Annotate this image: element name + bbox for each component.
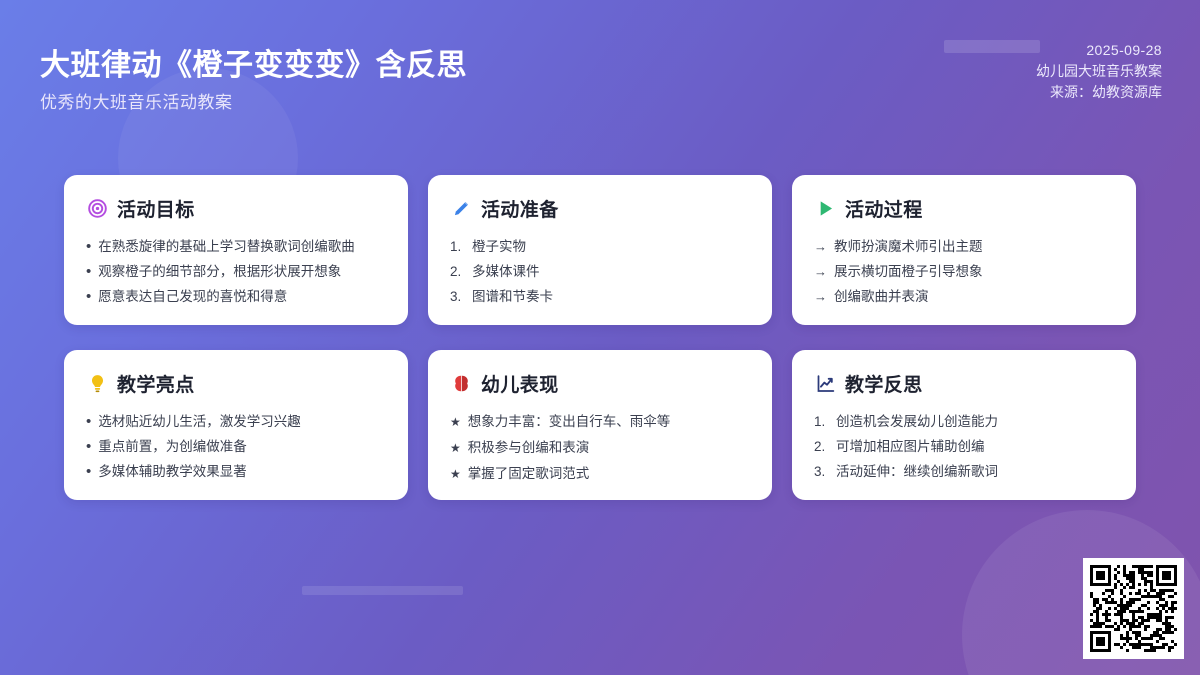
list-item-text: 想象力丰富：变出自行车、雨伞等 — [468, 409, 671, 434]
list-item: 3.图谱和节奏卡 — [450, 284, 750, 309]
play-icon — [814, 198, 836, 220]
list-item: ★掌握了固定歌词范式 — [450, 461, 750, 487]
card-item-list: ★想象力丰富：变出自行车、雨伞等★积极参与创编和表演★掌握了固定歌词范式 — [450, 409, 750, 487]
card-header: 教学反思 — [814, 370, 1114, 397]
list-marker-number: 2. — [450, 259, 465, 284]
list-item-text: 创造机会发展幼儿创造能力 — [836, 409, 998, 434]
card-chart-increasing: 教学反思1.创造机会发展幼儿创造能力2.可增加相应图片辅助创编3.活动延伸：继续… — [792, 350, 1136, 500]
list-item: ★想象力丰富：变出自行车、雨伞等 — [450, 409, 750, 435]
page-subtitle: 优秀的大班音乐活动教案 — [40, 88, 233, 113]
pencil-icon — [450, 198, 472, 220]
card-item-list: →教师扮演魔术师引出主题→展示横切面橙子引导想象→创编歌曲并表演 — [814, 234, 1114, 309]
card-header: 幼儿表现 — [450, 370, 750, 397]
list-item: 1.创造机会发展幼儿创造能力 — [814, 409, 1114, 434]
card-lightbulb: 教学亮点•选材贴近幼儿生活，激发学习兴趣•重点前置，为创编做准备•多媒体辅助教学… — [64, 350, 408, 500]
card-header: 活动过程 — [814, 195, 1114, 222]
meta-date: 2025-09-28 — [1036, 40, 1162, 61]
card-brain: 幼儿表现★想象力丰富：变出自行车、雨伞等★积极参与创编和表演★掌握了固定歌词范式 — [428, 350, 772, 500]
list-item-text: 图谱和节奏卡 — [472, 284, 553, 309]
list-item-text: 掌握了固定歌词范式 — [468, 461, 590, 486]
card-title: 活动准备 — [481, 195, 559, 222]
card-target: 活动目标•在熟悉旋律的基础上学习替换歌词创编歌曲•观察橙子的细节部分，根据形状展… — [64, 175, 408, 325]
list-marker-dot: • — [86, 234, 91, 259]
target-icon — [86, 198, 108, 220]
list-item: ★积极参与创编和表演 — [450, 435, 750, 461]
list-marker-dot: • — [86, 259, 91, 284]
card-item-list: 1.橙子实物2.多媒体课件3.图谱和节奏卡 — [450, 234, 750, 309]
list-item-text: 选材贴近幼儿生活，激发学习兴趣 — [98, 409, 301, 434]
card-item-list: 1.创造机会发展幼儿创造能力2.可增加相应图片辅助创编3.活动延伸：继续创编新歌… — [814, 409, 1114, 484]
list-item-text: 多媒体辅助教学效果显著 — [98, 459, 247, 484]
list-item-text: 在熟悉旋律的基础上学习替换歌词创编歌曲 — [98, 234, 355, 259]
list-item: 1.橙子实物 — [450, 234, 750, 259]
card-item-list: •选材贴近幼儿生活，激发学习兴趣•重点前置，为创编做准备•多媒体辅助教学效果显著 — [86, 409, 386, 484]
list-item: 2.多媒体课件 — [450, 259, 750, 284]
list-item-text: 教师扮演魔术师引出主题 — [834, 234, 983, 259]
qr-code[interactable] — [1083, 558, 1184, 659]
list-item-text: 多媒体课件 — [472, 259, 540, 284]
list-item: •重点前置，为创编做准备 — [86, 434, 386, 459]
list-item-text: 愿意表达自己发现的喜悦和得意 — [98, 284, 287, 309]
list-marker-arrow: → — [814, 234, 827, 259]
card-item-list: •在熟悉旋律的基础上学习替换歌词创编歌曲•观察橙子的细节部分，根据形状展开想象•… — [86, 234, 386, 309]
card-header: 教学亮点 — [86, 370, 386, 397]
list-marker-arrow: → — [814, 259, 827, 284]
list-item-text: 橙子实物 — [472, 234, 526, 259]
card-title: 活动目标 — [117, 195, 195, 222]
list-marker-number: 1. — [814, 409, 829, 434]
card-play: 活动过程→教师扮演魔术师引出主题→展示横切面橙子引导想象→创编歌曲并表演 — [792, 175, 1136, 325]
card-title: 活动过程 — [845, 195, 923, 222]
page-title: 大班律动《橙子变变变》含反思 — [40, 40, 467, 84]
list-item: →创编歌曲并表演 — [814, 284, 1114, 309]
chart-increasing-icon — [814, 373, 836, 395]
list-item: •观察橙子的细节部分，根据形状展开想象 — [86, 259, 386, 284]
header-meta: 2025-09-28 幼儿园大班音乐教案 来源：幼教资源库 — [1036, 40, 1162, 103]
list-marker-dot: • — [86, 409, 91, 434]
qr-code-image — [1090, 565, 1177, 652]
list-item: 3.活动延伸：继续创编新歌词 — [814, 459, 1114, 484]
list-marker-dot: • — [86, 284, 91, 309]
decorative-bar-bottom — [302, 586, 463, 595]
card-pencil: 活动准备1.橙子实物2.多媒体课件3.图谱和节奏卡 — [428, 175, 772, 325]
list-marker-number: 2. — [814, 434, 829, 459]
slide-header: 大班律动《橙子变变变》含反思 优秀的大班音乐活动教案 2025-09-28 幼儿… — [0, 0, 1200, 150]
list-item-text: 重点前置，为创编做准备 — [98, 434, 247, 459]
meta-category: 幼儿园大班音乐教案 — [1036, 61, 1162, 82]
list-marker-number: 3. — [450, 284, 465, 309]
list-marker-number: 3. — [814, 459, 829, 484]
slide-root: 大班律动《橙子变变变》含反思 优秀的大班音乐活动教案 2025-09-28 幼儿… — [0, 0, 1200, 675]
card-grid: 活动目标•在熟悉旋律的基础上学习替换歌词创编歌曲•观察橙子的细节部分，根据形状展… — [64, 175, 1136, 500]
list-marker-dot: • — [86, 459, 91, 484]
list-item-text: 可增加相应图片辅助创编 — [836, 434, 985, 459]
list-marker-star: ★ — [450, 436, 461, 461]
list-marker-arrow: → — [814, 284, 827, 309]
list-marker-dot: • — [86, 434, 91, 459]
meta-source: 来源：幼教资源库 — [1036, 82, 1162, 103]
brain-icon — [450, 373, 472, 395]
list-item-text: 观察橙子的细节部分，根据形状展开想象 — [98, 259, 341, 284]
card-title: 教学亮点 — [117, 370, 195, 397]
list-marker-number: 1. — [450, 234, 465, 259]
list-item-text: 展示横切面橙子引导想象 — [834, 259, 983, 284]
lightbulb-icon — [86, 373, 108, 395]
list-item: •选材贴近幼儿生活，激发学习兴趣 — [86, 409, 386, 434]
card-title: 教学反思 — [845, 370, 923, 397]
list-item-text: 活动延伸：继续创编新歌词 — [836, 459, 998, 484]
list-item: →展示横切面橙子引导想象 — [814, 259, 1114, 284]
list-item: 2.可增加相应图片辅助创编 — [814, 434, 1114, 459]
list-item-text: 积极参与创编和表演 — [468, 435, 590, 460]
card-header: 活动目标 — [86, 195, 386, 222]
list-item: •多媒体辅助教学效果显著 — [86, 459, 386, 484]
list-item: →教师扮演魔术师引出主题 — [814, 234, 1114, 259]
list-item: •在熟悉旋律的基础上学习替换歌词创编歌曲 — [86, 234, 386, 259]
card-title: 幼儿表现 — [481, 370, 559, 397]
card-header: 活动准备 — [450, 195, 750, 222]
list-item: •愿意表达自己发现的喜悦和得意 — [86, 284, 386, 309]
list-marker-star: ★ — [450, 462, 461, 487]
list-marker-star: ★ — [450, 410, 461, 435]
list-item-text: 创编歌曲并表演 — [834, 284, 929, 309]
